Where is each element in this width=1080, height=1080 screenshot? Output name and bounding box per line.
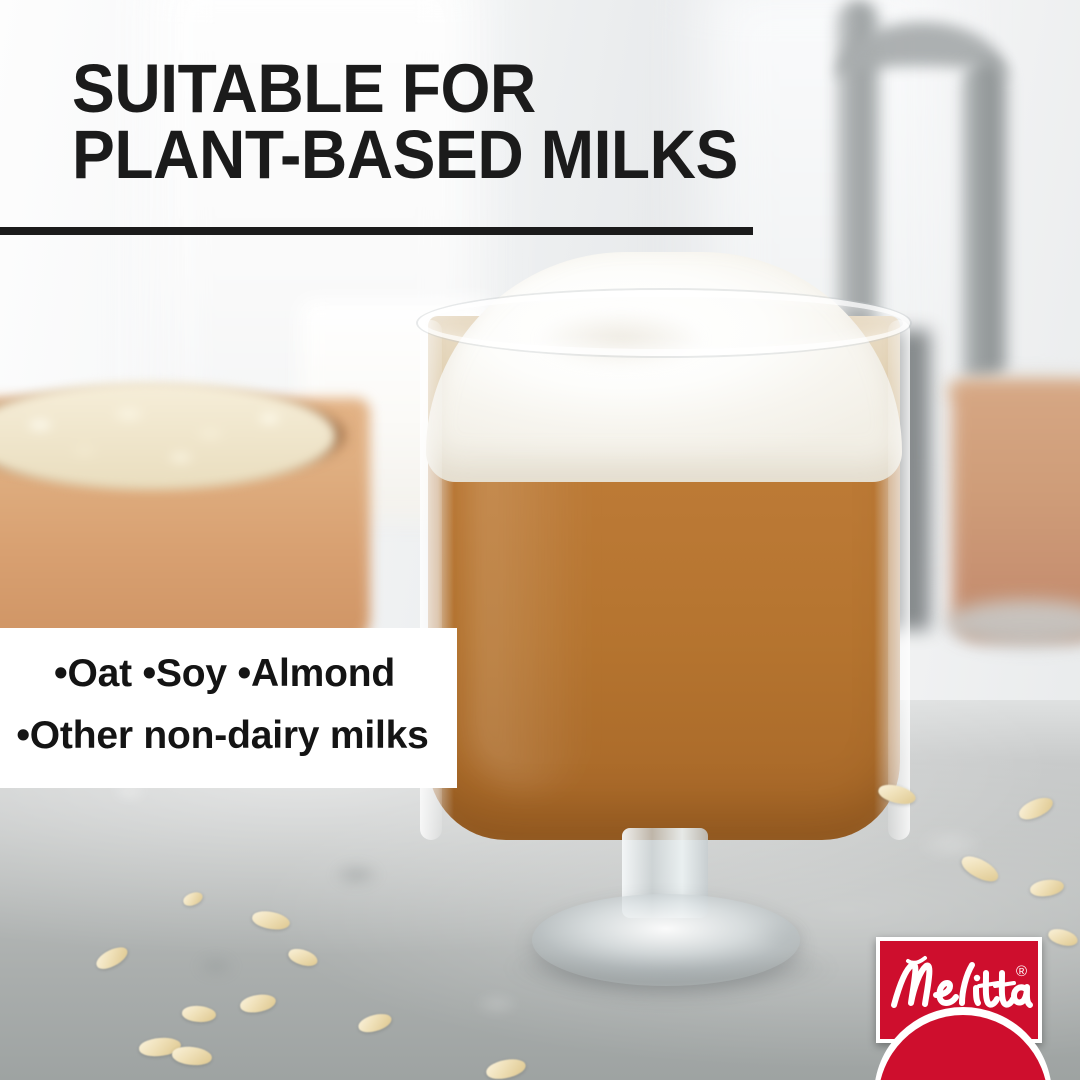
glass-foot: [532, 894, 800, 986]
glass-rim: [418, 290, 910, 356]
title-divider: [0, 227, 753, 235]
promo-image: SUITABLE FOR PLANT-BASED MILKS •Oat •Soy…: [0, 0, 1080, 1080]
glass-wall-right: [888, 320, 910, 840]
latte-glass: [410, 268, 920, 1008]
list-item: •Oat •Soy •Almond: [0, 652, 457, 696]
milk-types-list: •Oat •Soy •Almond •Other non-dairy milks: [0, 628, 457, 788]
registered-trademark-icon: ®: [1016, 963, 1027, 980]
milk-types-panel: •Oat •Soy •Almond •Other non-dairy milks: [0, 628, 457, 788]
coffee-machine-spout: [962, 60, 1008, 390]
page-title: SUITABLE FOR PLANT-BASED MILKS: [72, 56, 835, 188]
logo-wordmark: [876, 937, 1042, 1043]
melitta-logo: ®: [876, 937, 1042, 1043]
milk-foam: [426, 252, 902, 482]
list-item: •Other non-dairy milks: [0, 714, 457, 758]
